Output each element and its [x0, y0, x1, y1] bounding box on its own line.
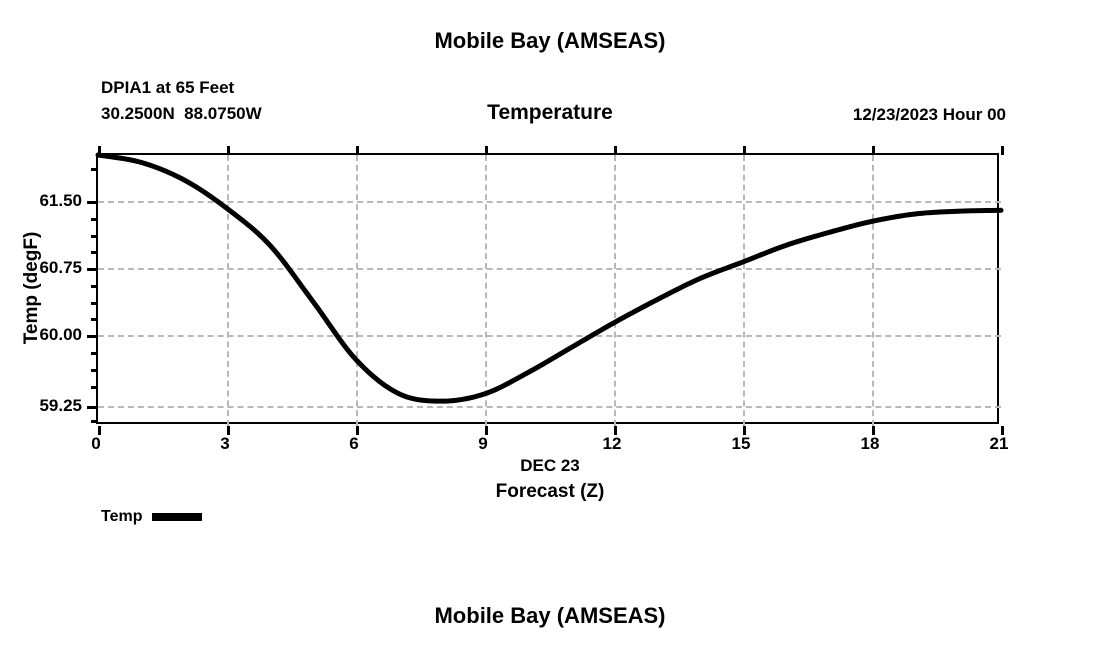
series-temp-line	[98, 155, 1001, 426]
ytick-label-5925: 59.25	[2, 396, 82, 416]
ytick-minor	[91, 285, 98, 288]
ytick-minor	[91, 302, 98, 305]
ytick-minor	[91, 235, 98, 238]
page-title-bottom: Mobile Bay (AMSEAS)	[0, 603, 1100, 629]
legend-label-temp: Temp	[101, 508, 142, 526]
xtick-label-15: 15	[711, 434, 771, 454]
xtick-label-6: 6	[324, 434, 384, 454]
ytick-label-6150: 61.50	[2, 191, 82, 211]
ytick-minor	[91, 218, 98, 221]
chart-canvas: Mobile Bay (AMSEAS) DPIA1 at 65 Feet 30.…	[0, 0, 1100, 650]
ytick-minor	[91, 251, 98, 254]
legend-swatch-temp	[152, 513, 202, 521]
station-depth-line: DPIA1 at 65 Feet	[101, 75, 262, 101]
x-axis-date-label: DEC 23	[0, 456, 1100, 476]
xtick-label-3: 3	[195, 434, 255, 454]
xtick-15	[743, 146, 746, 155]
ytick-minor	[91, 352, 98, 355]
plot-area	[96, 153, 999, 424]
ytick-minor	[91, 386, 98, 389]
ytick-major-6000	[87, 335, 98, 338]
y-axis-title: Temp (degF)	[21, 232, 43, 345]
legend: Temp	[101, 508, 202, 526]
xtick-21	[1001, 146, 1004, 155]
xtick-label-18: 18	[840, 434, 900, 454]
ytick-major-5925	[87, 406, 98, 409]
xtick-label-21: 21	[969, 434, 1029, 454]
ytick-major-6075	[87, 268, 98, 271]
ytick-minor	[91, 420, 98, 423]
page-title-top: Mobile Bay (AMSEAS)	[0, 28, 1100, 54]
x-axis-title: Forecast (Z)	[0, 481, 1100, 503]
xtick-6	[356, 146, 359, 155]
xtick-3	[227, 146, 230, 155]
xtick-12	[614, 146, 617, 155]
ytick-minor	[91, 168, 98, 171]
ytick-minor	[91, 318, 98, 321]
xtick-label-9: 9	[453, 434, 513, 454]
ytick-major-6150	[87, 201, 98, 204]
xtick-label-0: 0	[66, 434, 126, 454]
xtick-18	[872, 146, 875, 155]
xtick-9	[485, 146, 488, 155]
forecast-datetime: 12/23/2023 Hour 00	[853, 105, 1006, 125]
xtick-label-12: 12	[582, 434, 642, 454]
ytick-minor	[91, 369, 98, 372]
